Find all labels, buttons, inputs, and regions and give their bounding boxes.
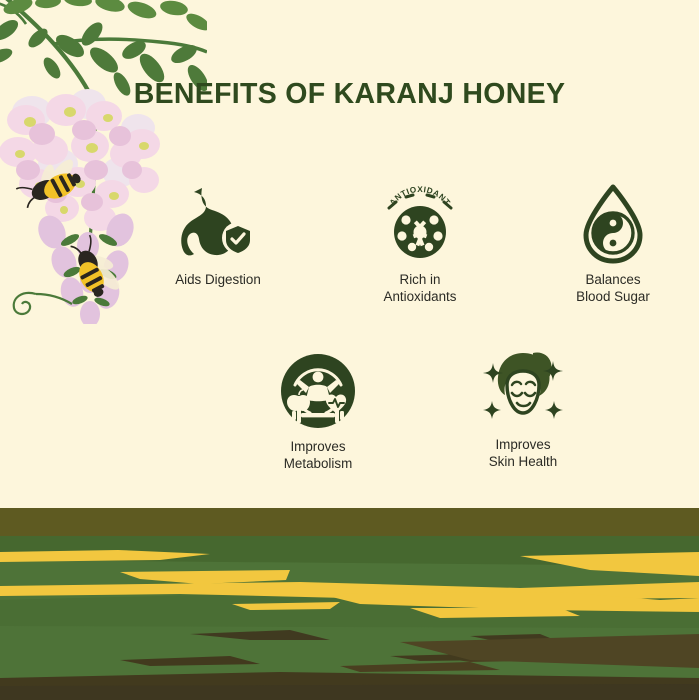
page-title: BENEFITS OF KARANJ HONEY — [0, 78, 699, 111]
benefit-icon-wrap — [143, 183, 293, 265]
bee-icon-lower — [64, 230, 128, 304]
skincare-face-sparkle-icon — [479, 347, 567, 431]
benefit-label: Improves Skin Health — [448, 436, 598, 470]
benefit-item-improves-skin-health[interactable]: Improves Skin Health — [448, 348, 598, 470]
benefit-item-rich-in-antioxidants[interactable]: ANTIOXIDANT — [345, 183, 495, 305]
bee-icon-upper — [12, 150, 88, 214]
benefit-icon-wrap — [448, 348, 598, 430]
metabolism-fitness-icon — [278, 351, 358, 431]
poster-canvas: BENEFITS OF KARANJ HONEY Aids Digestion … — [0, 0, 699, 700]
benefit-icon-wrap — [243, 350, 393, 432]
benefit-icon-wrap: ANTIOXIDANT — [345, 183, 495, 265]
landscape-illustration — [0, 508, 699, 700]
benefit-label: Improves Metabolism — [243, 438, 393, 472]
stomach-shield-check-icon — [176, 184, 260, 264]
benefit-item-improves-metabolism[interactable]: Improves Metabolism — [243, 350, 393, 472]
flower-cluster-lower — [14, 209, 139, 324]
benefit-icon-wrap — [538, 183, 688, 265]
benefit-item-balances-blood-sugar[interactable]: Balances Blood Sugar — [538, 183, 688, 305]
benefit-label: Aids Digestion — [143, 271, 293, 288]
benefit-item-aids-digestion[interactable]: Aids Digestion — [143, 183, 293, 288]
antioxidant-badge-text: ANTIOXIDANT — [388, 185, 452, 207]
benefit-label: Balances Blood Sugar — [538, 271, 688, 305]
benefit-label: Rich in Antioxidants — [345, 271, 495, 305]
droplet-yin-yang-icon — [580, 183, 646, 265]
svg-text:ANTIOXIDANT: ANTIOXIDANT — [388, 185, 452, 207]
antioxidant-molecule-icon: ANTIOXIDANT — [376, 184, 464, 264]
